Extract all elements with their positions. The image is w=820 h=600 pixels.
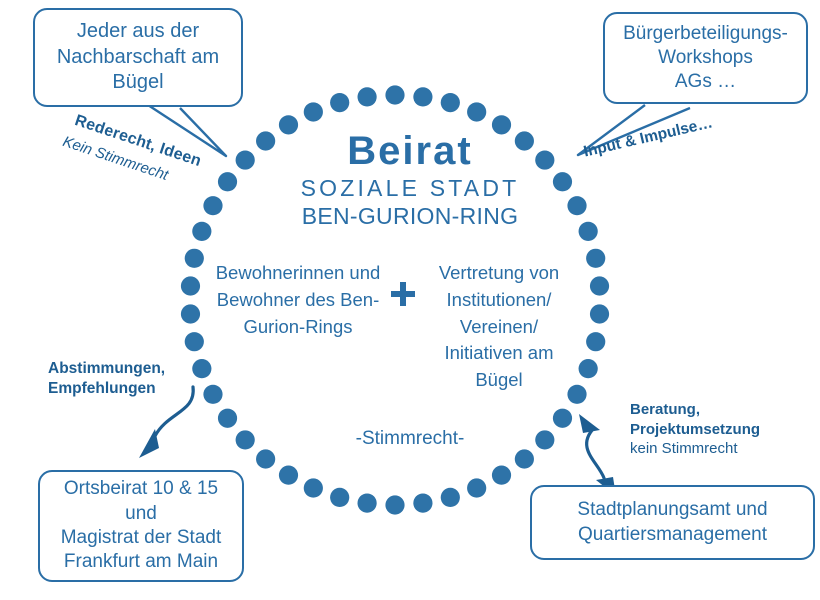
callout-neighbours-line-2: Nachbarschaft am [57, 45, 219, 71]
callout-ortsbeirat-line-4: Frankfurt am Main [61, 550, 222, 574]
label-abstimmungen-line-2: Empfehlungen [48, 379, 165, 399]
callout-workshops-line-1: Bürgerbeteiligungs- [623, 22, 788, 46]
callout-stadtplanungsamt-line-2: Quartiersmanagement [577, 523, 767, 547]
callout-workshops-line-3: AGs … [623, 70, 788, 94]
callout-ortsbeirat-line-3: Magistrat der Stadt [61, 526, 222, 550]
label-beratung-line-2: Projektumsetzung [630, 420, 760, 440]
callout-stadtplanungsamt-line-1: Stadtplanungsamt und [577, 498, 767, 522]
label-beratung-line-3: kein Stimmrecht [630, 439, 760, 459]
callout-ortsbeirat-line-1: Ortsbeirat 10 & 15 [61, 477, 222, 501]
label-beratung-line-1: Beratung, [630, 400, 760, 420]
callout-workshops-line-2: Workshops [623, 46, 788, 70]
label-abstimmungen-line-1: Abstimmungen, [48, 359, 165, 379]
callout-stadtplanungsamt[interactable]: Stadtplanungsamt und Quartiersmanagement [530, 485, 815, 560]
arrowhead-beratung-up [579, 414, 600, 433]
label-abstimmungen-empfehlungen: Abstimmungen, Empfehlungen [48, 359, 165, 399]
callout-neighbours[interactable]: Jeder aus der Nachbarschaft am Bügel [33, 8, 243, 107]
callout-ortsbeirat[interactable]: Ortsbeirat 10 & 15 und Magistrat der Sta… [38, 470, 244, 582]
label-beratung-projektumsetzung: Beratung, Projektumsetzung kein Stimmrec… [630, 400, 760, 459]
diagram-canvas: Beirat SOZIALE STADT BEN-GURION-RING Bew… [0, 0, 820, 600]
arrow-beratung [587, 428, 604, 478]
callout-workshops[interactable]: Bürgerbeteiligungs- Workshops AGs … [603, 12, 808, 104]
callout-neighbours-line-1: Jeder aus der [57, 19, 219, 45]
callout-ortsbeirat-line-2: und [61, 502, 222, 526]
callout-neighbours-line-3: Bügel [57, 70, 219, 96]
